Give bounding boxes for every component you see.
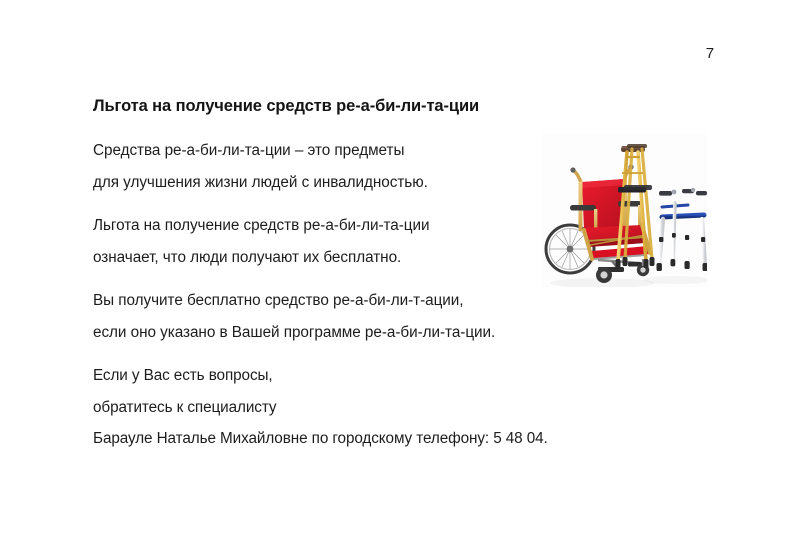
- rehabilitation-equipment-photo: [542, 133, 707, 287]
- rehabilitation-equipment-illustration: [542, 133, 707, 287]
- paragraph-line: если оно указано в Вашей программе ре-а-…: [93, 317, 633, 349]
- paragraph-line: обратитесь к специалисту: [93, 392, 633, 424]
- paragraph-line: Вы получите бесплатно средство ре-а-би-л…: [93, 285, 633, 317]
- paragraph-line: Если у Вас есть вопросы,: [93, 360, 633, 392]
- paragraph-contact: Если у Вас есть вопросы, обратитесь к сп…: [93, 360, 633, 455]
- paragraph-condition: Вы получите бесплатно средство ре-а-би-л…: [93, 285, 633, 348]
- page-number: 7: [690, 45, 730, 62]
- slide-canvas: 7 Льгота на получение средств ре-а-би-ли…: [0, 0, 794, 559]
- paragraph-line: Барауле Наталье Михайловне по городскому…: [93, 423, 633, 455]
- page-title: Льгота на получение средств ре-а-би-ли-т…: [93, 96, 653, 116]
